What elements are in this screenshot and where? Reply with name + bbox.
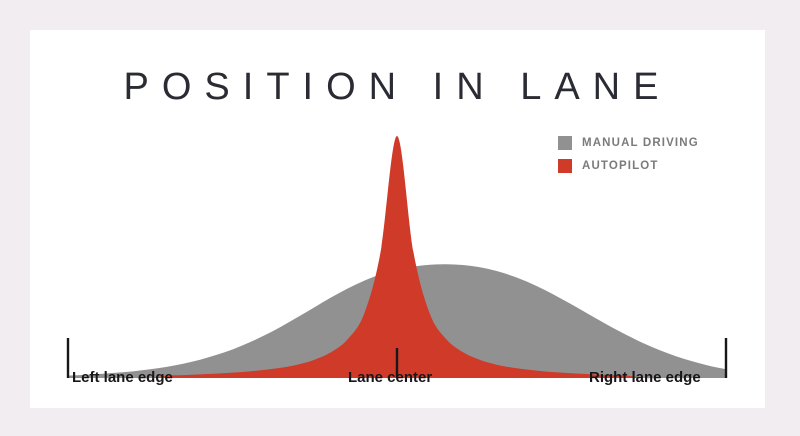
series-areas (68, 136, 726, 378)
distribution-plot (30, 30, 765, 408)
axis-label-right-lane-edge: Right lane edge (589, 370, 701, 385)
figure-root: POSITION IN LANE MANUAL DRIVING AUTOPILO… (0, 0, 800, 436)
axis-label-lane-center: Lane center (348, 370, 432, 385)
axis-label-left-lane-edge: Left lane edge (72, 370, 173, 385)
chart-card: POSITION IN LANE MANUAL DRIVING AUTOPILO… (30, 30, 765, 408)
plot-area: Left lane edge Lane center Right lane ed… (30, 30, 765, 408)
